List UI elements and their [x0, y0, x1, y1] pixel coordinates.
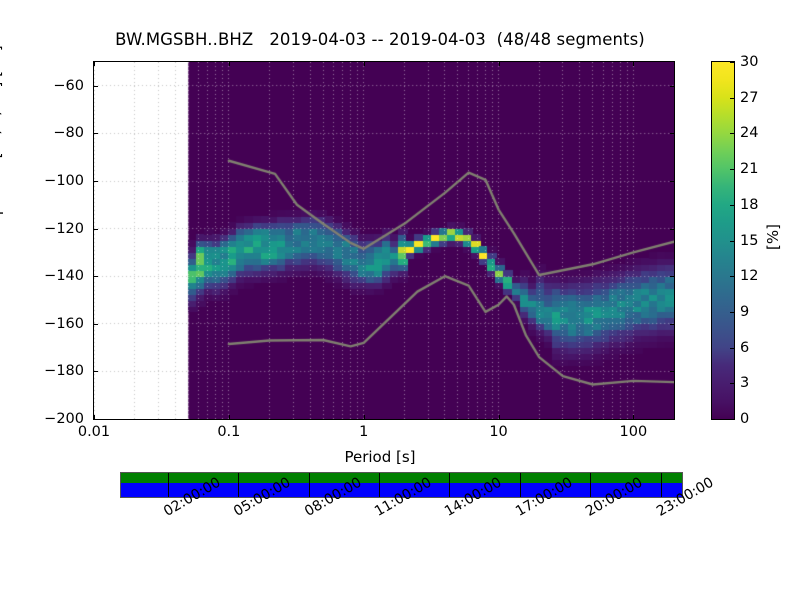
- y-tick-mark: [93, 181, 98, 182]
- coverage-tick-mark: [449, 473, 450, 497]
- y-axis-units: m²/s⁴/Hz: [0, 87, 4, 152]
- colorbar-tick-label: 9: [740, 304, 749, 320]
- y-tick-mark: [670, 371, 675, 372]
- x-tick-mark: [229, 61, 230, 66]
- x-tick-label: 1: [334, 424, 394, 440]
- y-tick-mark: [670, 419, 675, 420]
- x-tick-label: 100: [603, 424, 663, 440]
- x-tick-mark: [499, 61, 500, 66]
- y-tick-label: −60: [24, 78, 84, 94]
- colorbar-tick-mark: [730, 383, 735, 384]
- y-tick-mark: [93, 371, 98, 372]
- colorbar-tick-label: 0: [740, 411, 749, 427]
- x-tick-mark: [229, 415, 230, 420]
- y-tick-label: −100: [24, 173, 84, 189]
- colorbar-tick-mark: [730, 62, 735, 63]
- coverage-tick-mark: [590, 473, 591, 497]
- y-axis-label: Amplitude [m²/s⁴/Hz] [dB]: [0, 45, 4, 240]
- coverage-tick-mark: [309, 473, 310, 497]
- ppsd-figure: BW.MGSBH..BHZ 2019-04-03 -- 2019-04-03 (…: [0, 0, 800, 600]
- y-tick-label: −160: [24, 316, 84, 332]
- y-tick-label: −120: [24, 221, 84, 237]
- colorbar-tick-label: 21: [740, 161, 758, 177]
- colorbar-tick-mark: [730, 348, 735, 349]
- colorbar-tick-label: 6: [740, 340, 749, 356]
- plot-title: BW.MGSBH..BHZ 2019-04-03 -- 2019-04-03 (…: [0, 30, 760, 49]
- y-tick-mark: [93, 324, 98, 325]
- x-tick-mark: [364, 415, 365, 420]
- ppsd-axes: [93, 61, 675, 420]
- x-tick-mark: [94, 61, 95, 66]
- y-tick-mark: [670, 276, 675, 277]
- x-tick-mark: [364, 61, 365, 66]
- y-tick-mark: [93, 133, 98, 134]
- colorbar-tick-mark: [730, 312, 735, 313]
- colorbar-tick-mark: [730, 98, 735, 99]
- y-tick-mark: [670, 181, 675, 182]
- y-tick-label: −180: [24, 363, 84, 379]
- coverage-tick-mark: [661, 473, 662, 497]
- colorbar-tick-mark: [730, 169, 735, 170]
- x-tick-label: 0.01: [64, 424, 124, 440]
- y-tick-mark: [670, 229, 675, 230]
- y-tick-label: −80: [24, 125, 84, 141]
- y-tick-mark: [670, 86, 675, 87]
- y-tick-mark: [93, 229, 98, 230]
- colorbar-tick-mark: [730, 276, 735, 277]
- colorbar-tick-label: 18: [740, 197, 758, 213]
- x-axis-label: Period [s]: [0, 448, 760, 466]
- coverage-tick-mark: [520, 473, 521, 497]
- colorbar-tick-label: 30: [740, 54, 758, 70]
- y-tick-mark: [93, 86, 98, 87]
- coverage-tick-mark: [238, 473, 239, 497]
- x-tick-mark: [499, 415, 500, 420]
- x-tick-mark: [633, 61, 634, 66]
- colorbar-tick-label: 3: [740, 375, 749, 391]
- colorbar-label: [%]: [764, 224, 782, 250]
- colorbar-tick-label: 12: [740, 268, 758, 284]
- x-tick-label: 10: [469, 424, 529, 440]
- y-tick-mark: [670, 324, 675, 325]
- colorbar-tick-mark: [730, 419, 735, 420]
- coverage-tick-mark: [168, 473, 169, 497]
- y-tick-mark: [93, 276, 98, 277]
- x-tick-mark: [633, 415, 634, 420]
- colorbar-tick-mark: [730, 205, 735, 206]
- colorbar-tick-mark: [730, 133, 735, 134]
- colorbar-tick-label: 15: [740, 233, 758, 249]
- colorbar-tick-mark: [730, 241, 735, 242]
- colorbar-tick-label: 24: [740, 125, 758, 141]
- y-tick-mark: [670, 133, 675, 134]
- coverage-tick-mark: [379, 473, 380, 497]
- y-tick-label: −140: [24, 268, 84, 284]
- colorbar-tick-label: 27: [740, 90, 758, 106]
- x-tick-mark: [94, 415, 95, 420]
- x-tick-label: 0.1: [199, 424, 259, 440]
- ppsd-histogram-canvas: [94, 62, 674, 419]
